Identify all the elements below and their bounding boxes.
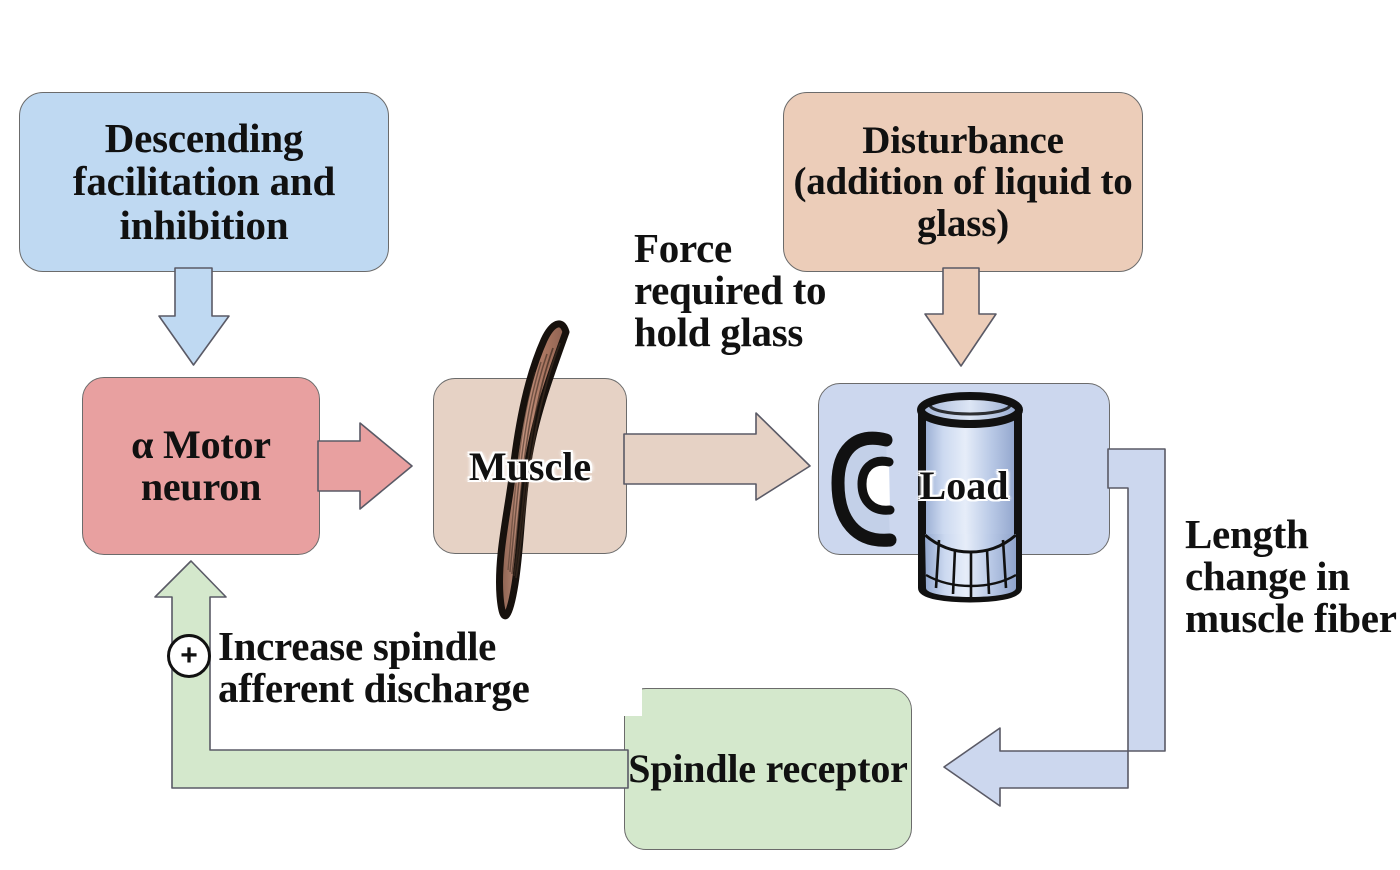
muscle-icon (499, 324, 566, 616)
label-increase-spindle-discharge: Increase spindle afferent discharge (214, 624, 642, 716)
plus-sign-label: + (180, 641, 198, 671)
label-force-required: Force required to hold glass (634, 228, 834, 353)
artwork-layer (0, 0, 1400, 870)
plus-circle-icon: + (167, 634, 211, 678)
load-icon (838, 396, 1019, 599)
label-length-change: Length change in muscle fiber (1185, 514, 1400, 639)
diagram-canvas: Descending facilitation and inhibition D… (0, 0, 1400, 870)
